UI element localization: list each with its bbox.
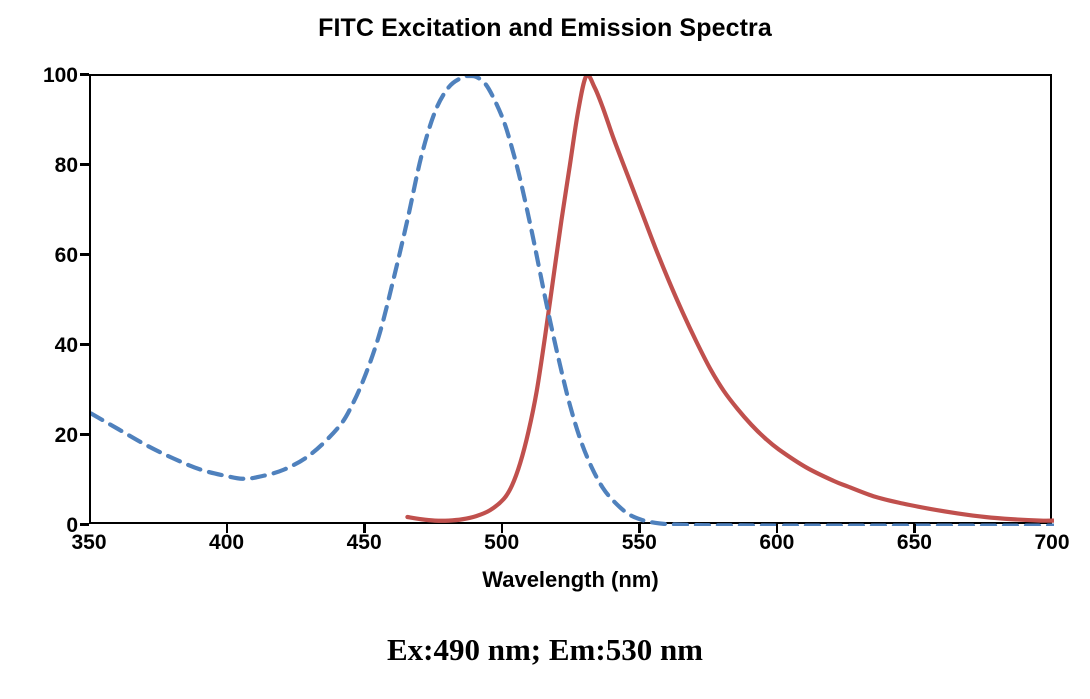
y-tick-mark-60 [80, 253, 89, 256]
x-tick-label-400: 400 [182, 531, 272, 555]
page-title: FITC Excitation and Emission Spectra [0, 14, 1090, 43]
chart-page: FITC Excitation and Emission Spectra Nor… [0, 0, 1090, 699]
y-tick-mark-100 [80, 73, 89, 76]
x-tick-label-600: 600 [732, 531, 822, 555]
x-tick-label-350: 350 [44, 531, 134, 555]
x-tick-mark-450 [363, 524, 366, 533]
y-tick-label-40: 40 [0, 334, 78, 354]
emission-curve [407, 76, 1054, 521]
x-tick-mark-500 [501, 524, 504, 533]
x-tick-mark-400 [226, 524, 229, 533]
x-tick-mark-550 [638, 524, 641, 533]
x-tick-label-500: 500 [457, 531, 547, 555]
y-tick-mark-20 [80, 433, 89, 436]
x-tick-mark-600 [776, 524, 779, 533]
plot-area [89, 74, 1052, 524]
y-tick-label-20: 20 [0, 424, 78, 444]
figure-caption: Ex:490 nm; Em:530 nm [0, 632, 1090, 668]
spectra-plot [91, 76, 1054, 526]
x-tick-label-550: 550 [594, 531, 684, 555]
y-tick-mark-80 [80, 163, 89, 166]
x-axis-label: Wavelength (nm) [89, 567, 1052, 593]
y-tick-mark-40 [80, 343, 89, 346]
x-tick-label-450: 450 [319, 531, 409, 555]
y-tick-mark-0 [80, 523, 89, 526]
y-tick-label-60: 60 [0, 244, 78, 264]
x-tick-label-700: 700 [1007, 531, 1090, 555]
y-tick-label-80: 80 [0, 154, 78, 174]
y-tick-label-100: 100 [0, 64, 78, 84]
x-tick-mark-650 [913, 524, 916, 533]
x-tick-label-650: 650 [869, 531, 959, 555]
